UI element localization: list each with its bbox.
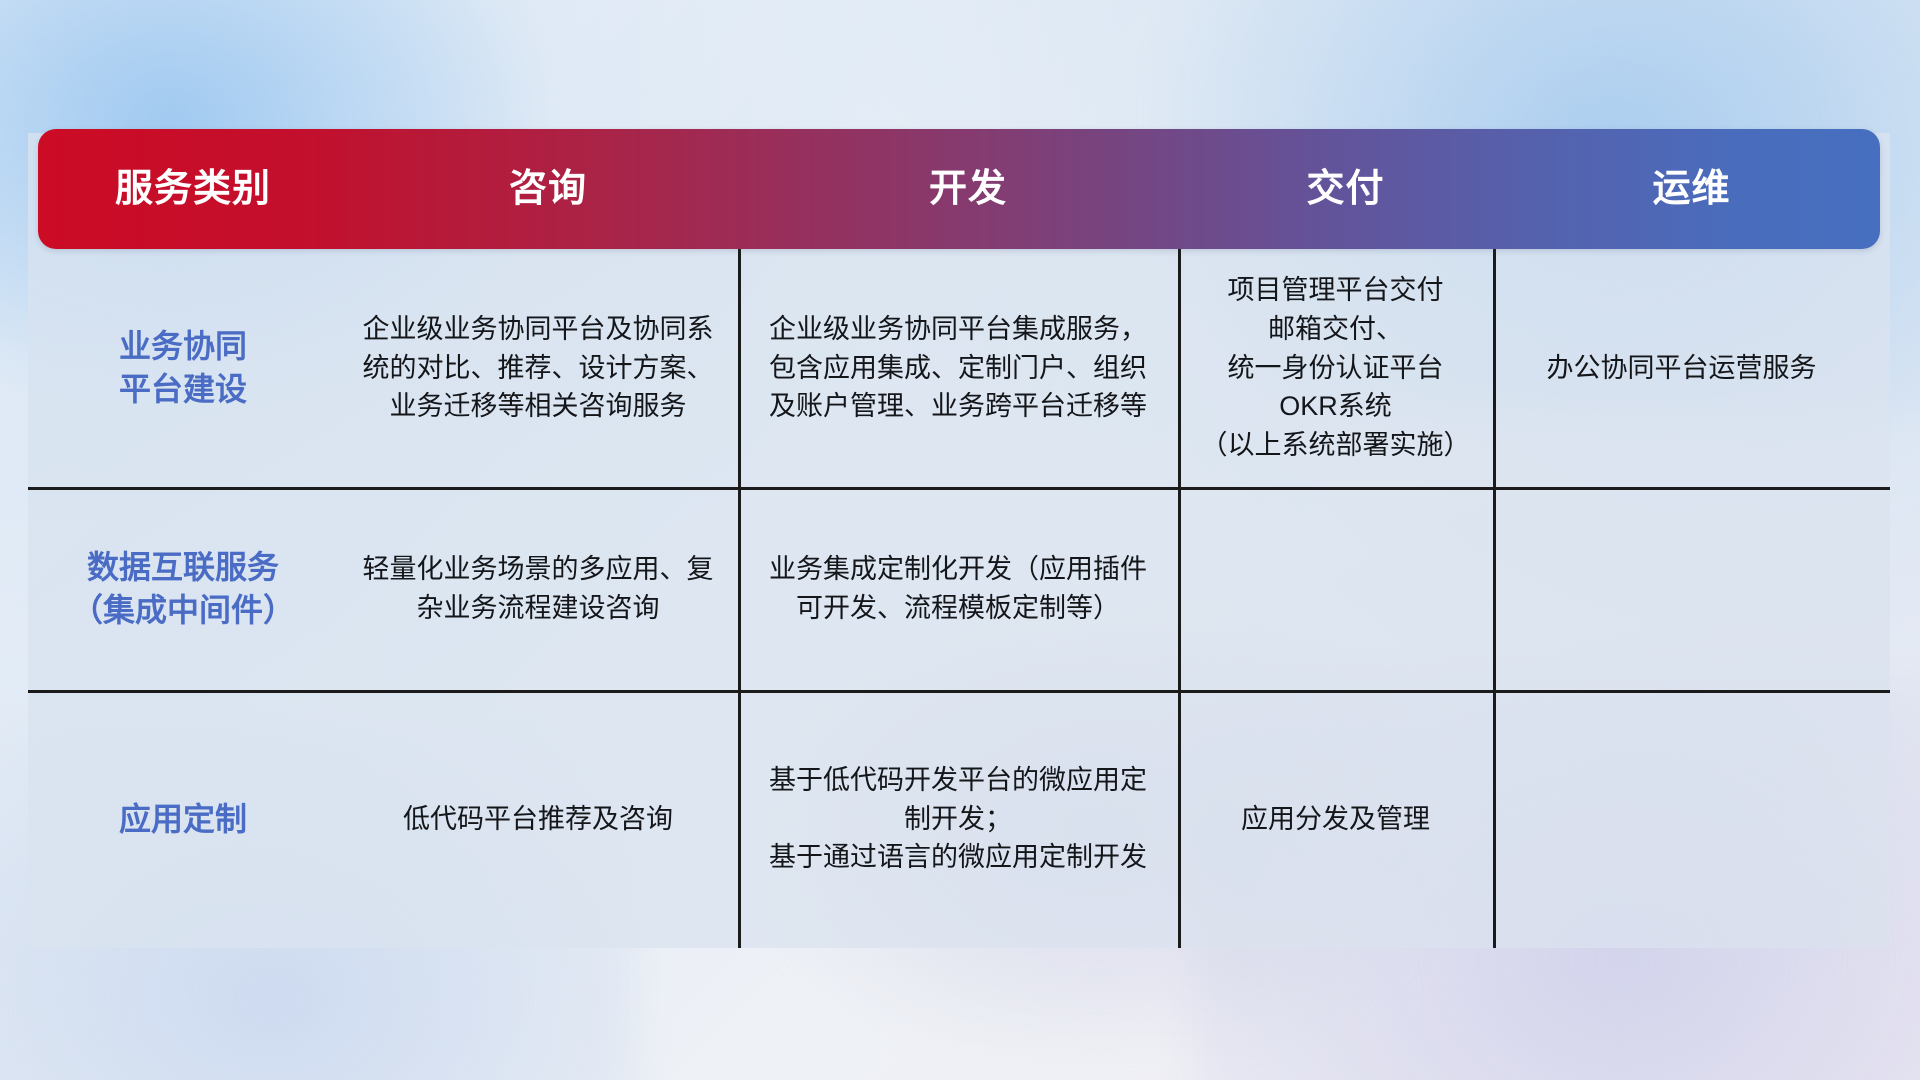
cell-text: 企业级业务协同平台及协同系 统的对比、推荐、设计方案、 业务迁移等相关咨询服务 <box>363 310 714 427</box>
cell-delivery: 应用分发及管理 <box>1178 690 1493 948</box>
row-label-text: 应用定制 <box>119 798 247 841</box>
table-body-grid: 业务协同 平台建设 企业级业务协同平台及协同系 统的对比、推荐、设计方案、 业务… <box>28 249 1890 948</box>
cell-development: 业务集成定制化开发（应用插件 可开发、流程模板定制等） <box>738 487 1178 690</box>
table-row: 应用定制 低代码平台推荐及咨询 基于低代码开发平台的微应用定 制开发； 基于通过… <box>28 690 1890 948</box>
cell-delivery: 项目管理平台交付 邮箱交付、 统一身份认证平台 OKR系统 （以上系统部署实施） <box>1178 249 1493 487</box>
cell-delivery <box>1178 487 1493 690</box>
cell-text: 轻量化业务场景的多应用、复 杂业务流程建设咨询 <box>363 550 714 628</box>
table-row: 业务协同 平台建设 企业级业务协同平台及协同系 统的对比、推荐、设计方案、 业务… <box>28 249 1890 487</box>
table-header-row: 服务类别 咨询 开发 交付 运维 <box>38 129 1880 249</box>
cell-consulting: 低代码平台推荐及咨询 <box>338 690 738 948</box>
cell-text: 基于低代码开发平台的微应用定 制开发； 基于通过语言的微应用定制开发 <box>769 761 1147 878</box>
cell-text: 企业级业务协同平台集成服务， 包含应用集成、定制门户、组织 及账户管理、业务跨平… <box>769 310 1147 427</box>
row-label-text: 数据互联服务 （集成中间件） <box>71 546 295 632</box>
cell-consulting: 轻量化业务场景的多应用、复 杂业务流程建设咨询 <box>338 487 738 690</box>
column-divider-operations <box>1493 249 1496 948</box>
row-label-cell: 业务协同 平台建设 <box>28 249 338 487</box>
service-matrix-table: 服务类别 咨询 开发 交付 运维 业务协同 平台建设 企业级业务协同平台及协同系… <box>28 133 1890 948</box>
column-header-delivery: 交付 <box>1188 170 1503 208</box>
row-divider-2 <box>28 690 1890 693</box>
row-label-cell: 应用定制 <box>28 690 338 948</box>
cell-operations: 办公协同平台运营服务 <box>1493 249 1870 487</box>
table-row: 数据互联服务 （集成中间件） 轻量化业务场景的多应用、复 杂业务流程建设咨询 业… <box>28 487 1890 690</box>
row-divider-1 <box>28 487 1890 490</box>
cell-text: 办公协同平台运营服务 <box>1547 349 1817 388</box>
column-header-operations: 运维 <box>1503 170 1880 208</box>
cell-development: 企业级业务协同平台集成服务， 包含应用集成、定制门户、组织 及账户管理、业务跨平… <box>738 249 1178 487</box>
row-label-text: 业务协同 平台建设 <box>119 325 247 411</box>
cell-text: 应用分发及管理 <box>1241 800 1430 839</box>
cell-consulting: 企业级业务协同平台及协同系 统的对比、推荐、设计方案、 业务迁移等相关咨询服务 <box>338 249 738 487</box>
cell-text: 项目管理平台交付 邮箱交付、 统一身份认证平台 OKR系统 （以上系统部署实施） <box>1201 271 1471 465</box>
column-divider-delivery <box>1178 249 1181 948</box>
row-label-cell: 数据互联服务 （集成中间件） <box>28 487 338 690</box>
slide-canvas: 服务类别 咨询 开发 交付 运维 业务协同 平台建设 企业级业务协同平台及协同系… <box>0 0 1920 1080</box>
column-header-development: 开发 <box>748 170 1188 208</box>
column-header-service-category: 服务类别 <box>38 170 348 208</box>
cell-operations <box>1493 487 1870 690</box>
cell-text: 业务集成定制化开发（应用插件 可开发、流程模板定制等） <box>769 550 1147 628</box>
cell-operations <box>1493 690 1870 948</box>
cell-development: 基于低代码开发平台的微应用定 制开发； 基于通过语言的微应用定制开发 <box>738 690 1178 948</box>
cell-text: 低代码平台推荐及咨询 <box>403 800 673 839</box>
column-divider-development <box>738 249 741 948</box>
column-header-consulting: 咨询 <box>348 170 748 208</box>
